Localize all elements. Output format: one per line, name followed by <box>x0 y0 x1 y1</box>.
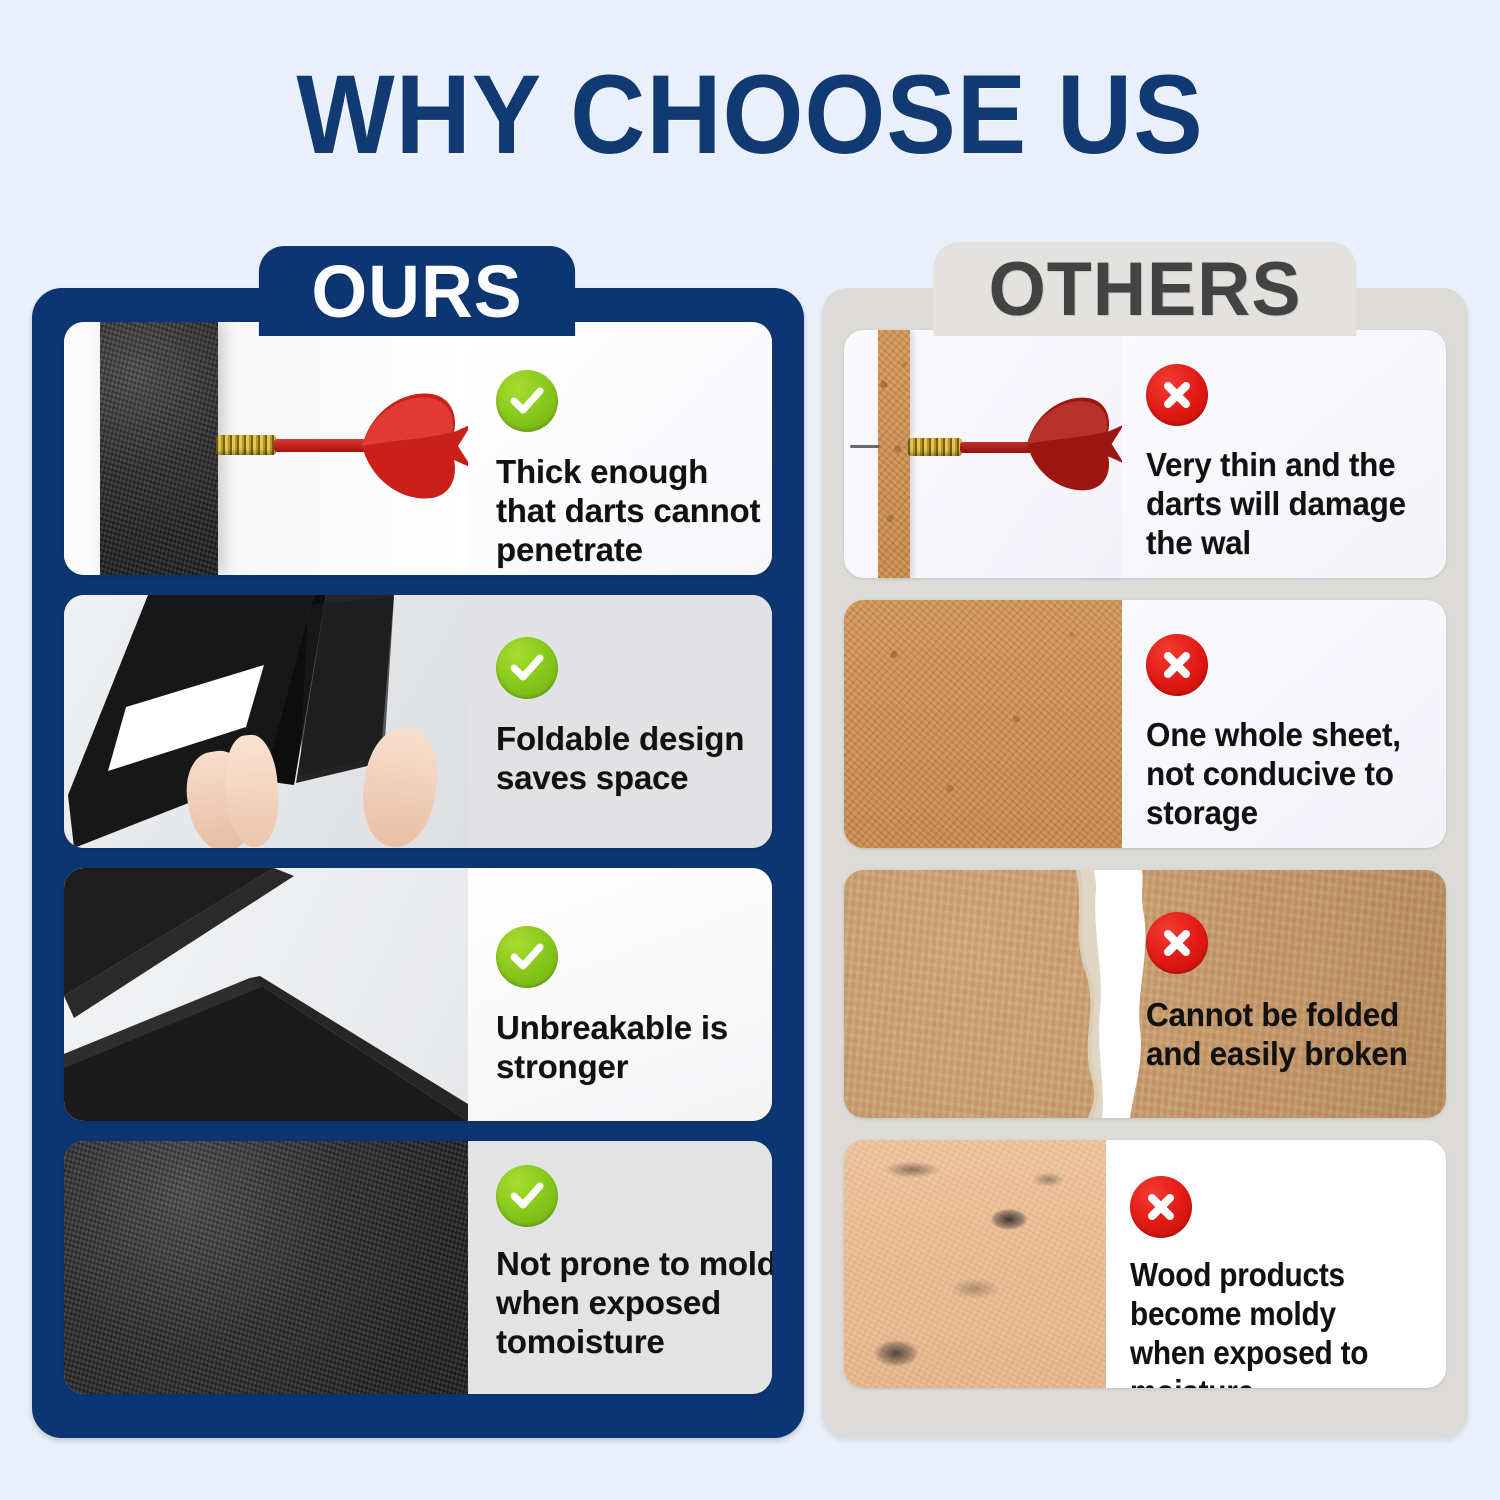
check-icon <box>496 926 558 988</box>
ours-row-1-body: Thick enough that darts cannot penetrate <box>468 322 772 575</box>
ours-row-4-body: Not prone to mold when exposed tomoistur… <box>468 1141 772 1394</box>
others-row-4-body: Wood products become moldy when exposed … <box>1106 1140 1446 1388</box>
check-icon <box>496 1165 558 1227</box>
cross-icon <box>1146 912 1208 974</box>
cross-icon <box>1130 1176 1192 1238</box>
ours-row-2-body: Foldable design saves space <box>468 595 772 848</box>
ours-row-2-text: Foldable design saves space <box>496 720 772 798</box>
others-row-2-image <box>844 600 1122 848</box>
others-row-2: One whole sheet, not conducive to storag… <box>844 600 1446 848</box>
tab-ours[interactable]: OURS <box>259 246 575 336</box>
ours-row-3-body: Unbreakable is stronger <box>468 868 772 1121</box>
tab-others[interactable]: OTHERS <box>934 242 1357 336</box>
check-icon <box>496 370 558 432</box>
ours-row-1-image <box>64 322 468 575</box>
dart-flight-icon <box>1020 392 1122 496</box>
ours-row-2: Foldable design saves space <box>64 595 772 848</box>
dart-flight-icon <box>354 388 468 504</box>
page-title: WHY CHOOSE US <box>53 56 1448 174</box>
ours-panel: Thick enough that darts cannot penetrate <box>32 288 804 1438</box>
others-row-1-image <box>844 330 1122 578</box>
ours-row-1: Thick enough that darts cannot penetrate <box>64 322 772 575</box>
others-row-2-body: One whole sheet, not conducive to storag… <box>1122 600 1446 848</box>
others-row-3-image <box>844 870 1122 1118</box>
ours-row-1-text: Thick enough that darts cannot penetrate <box>496 453 772 570</box>
others-row-1: Very thin and the darts will damage the … <box>844 330 1446 578</box>
others-row-2-text: One whole sheet, not conducive to storag… <box>1146 716 1425 833</box>
others-row-3-body: Cannot be folded and easily broken <box>1122 870 1446 1118</box>
cross-icon <box>1146 364 1208 426</box>
tab-ours-label: OURS <box>311 249 522 334</box>
others-panel: Very thin and the darts will damage the … <box>822 288 1468 1438</box>
others-row-1-body: Very thin and the darts will damage the … <box>1122 330 1446 578</box>
ours-row-4-text: Not prone to mold when exposed tomoistur… <box>496 1245 772 1362</box>
ours-row-3-image <box>64 868 468 1121</box>
ours-row-3-text: Unbreakable is stronger <box>496 1009 772 1087</box>
others-row-4: Wood products become moldy when exposed … <box>844 1140 1446 1388</box>
cross-icon <box>1146 634 1208 696</box>
ours-row-4: Not prone to mold when exposed tomoistur… <box>64 1141 772 1394</box>
others-row-1-text: Very thin and the darts will damage the … <box>1146 446 1425 563</box>
ours-row-4-image <box>64 1141 468 1394</box>
others-row-4-text: Wood products become moldy when exposed … <box>1130 1256 1400 1388</box>
check-icon <box>496 637 558 699</box>
others-row-3: Cannot be folded and easily broken <box>844 870 1446 1118</box>
others-row-3-text: Cannot be folded and easily broken <box>1146 996 1425 1074</box>
others-row-4-image <box>844 1140 1106 1388</box>
ours-row-3: Unbreakable is stronger <box>64 868 772 1121</box>
tab-others-label: OTHERS <box>988 246 1301 333</box>
ours-row-2-image <box>64 595 468 848</box>
